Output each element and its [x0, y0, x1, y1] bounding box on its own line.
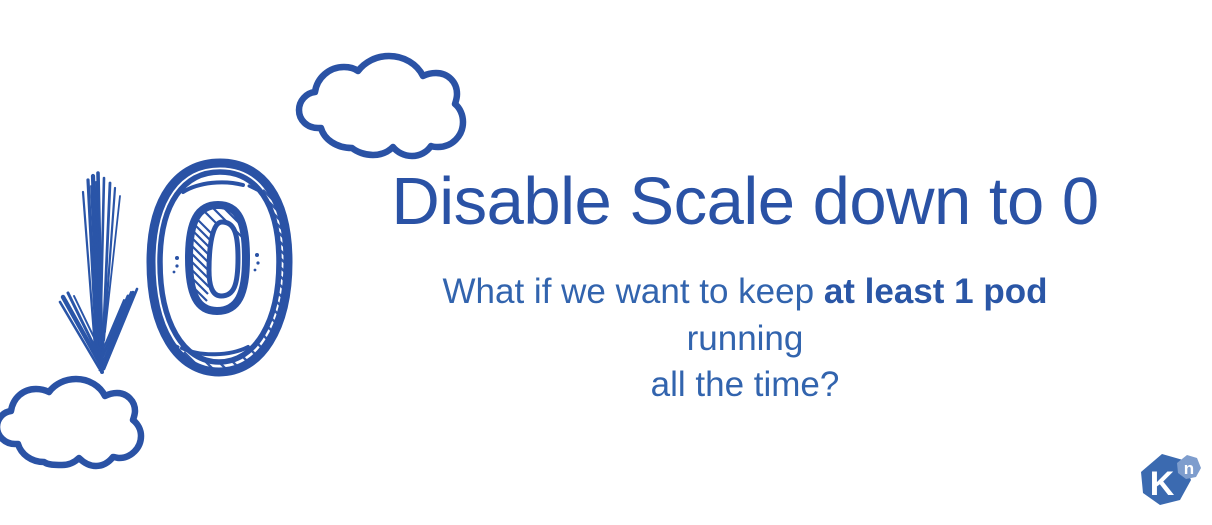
subtitle-tail: running — [687, 319, 804, 358]
sketch-speckles — [173, 253, 260, 273]
subtitle-lead: What if we want to keep — [443, 272, 824, 311]
knative-logo: K n — [1130, 448, 1204, 520]
logo-letter-n: n — [1184, 459, 1194, 478]
subtitle-emphasis: at least 1 pod — [824, 272, 1048, 311]
slide-subtitle: What if we want to keep at least 1 pod r… — [380, 235, 1110, 409]
subtitle-line-2: all the time? — [651, 365, 840, 404]
text-block: Disable Scale down to 0 What if we want … — [380, 168, 1110, 409]
page-title: Disable Scale down to 0 — [380, 168, 1110, 235]
cloud-outline-top — [299, 56, 463, 156]
down-arrow-sketch — [60, 173, 137, 372]
logo-letter-k: K — [1150, 465, 1175, 503]
hand-drawn-zero — [151, 150, 318, 403]
slide-canvas: Disable Scale down to 0 What if we want … — [0, 0, 1212, 525]
cloud-outline-bottom — [0, 379, 141, 466]
